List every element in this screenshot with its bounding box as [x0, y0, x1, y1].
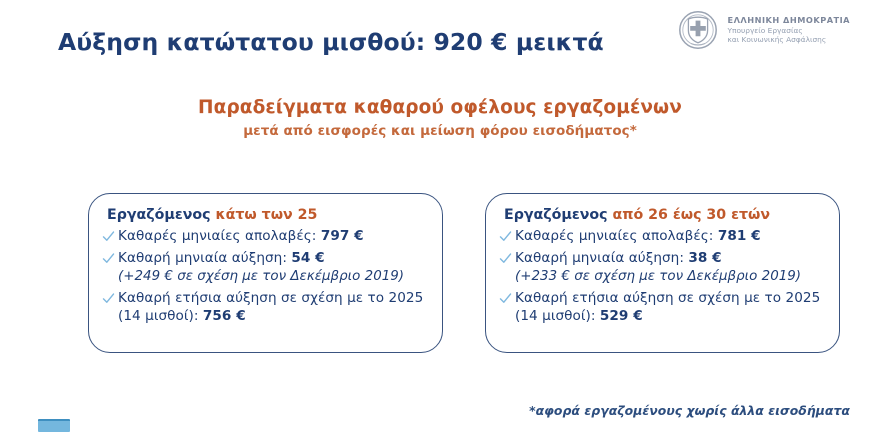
bullet-label: Καθαρή μηνιαία αύξηση:: [118, 250, 287, 266]
bullet-label: Καθαρή ετήσια αύξηση σε σχέση με το 2025…: [118, 290, 423, 324]
card-26-to-30: Εργαζόμενος από 26 έως 30 ετών Καθαρές μ…: [485, 193, 840, 353]
card-heading-prefix: Εργαζόμενος: [107, 207, 211, 223]
card-bullet-list: Καθαρές μηνιαίες απολαβές: 781 € Καθαρή …: [499, 228, 825, 325]
check-icon: [102, 250, 118, 265]
ministry-logo: ΕΛΛΗΝΙΚΗ ΔΗΜΟΚΡΑΤΙΑ Υπουργείο Εργασίας κ…: [678, 10, 850, 50]
check-icon: [102, 290, 118, 305]
bullet-text: Καθαρή μηνιαία αύξηση: 54 € (+249 € σε σ…: [118, 250, 404, 286]
list-item: Καθαρή μηνιαία αύξηση: 54 € (+249 € σε σ…: [102, 250, 428, 286]
card-bullet-list: Καθαρές μηνιαίες απολαβές: 797 € Καθαρή …: [102, 228, 428, 325]
bullet-value: 797 €: [321, 228, 364, 244]
page-title: Αύξηση κατώτατου μισθού: 920 € μεικτά: [58, 28, 604, 56]
subtitle-secondary: μετά από εισφορές και μείωση φόρου εισοδ…: [0, 123, 880, 139]
example-cards: Εργαζόμενος κάτω των 25 Καθαρές μηνιαίες…: [88, 193, 840, 353]
bullet-note: (+249 € σε σχέση με τον Δεκέμβριο 2019): [118, 268, 404, 286]
bullet-value: 756 €: [203, 308, 246, 324]
ministry-logo-text: ΕΛΛΗΝΙΚΗ ΔΗΜΟΚΡΑΤΙΑ Υπουργείο Εργασίας κ…: [727, 15, 850, 44]
list-item: Καθαρές μηνιαίες απολαβές: 781 €: [499, 228, 825, 246]
slide-root: ΕΛΛΗΝΙΚΗ ΔΗΜΟΚΡΑΤΙΑ Υπουργείο Εργασίας κ…: [0, 0, 880, 432]
bullet-value: 781 €: [718, 228, 761, 244]
list-item: Καθαρή μηνιαία αύξηση: 38 € (+233 € σε σ…: [499, 250, 825, 286]
greek-republic-emblem-icon: [678, 10, 718, 50]
list-item: Καθαρή ετήσια αύξηση σε σχέση με το 2025…: [499, 290, 825, 326]
bullet-text: Καθαρή ετήσια αύξηση σε σχέση με το 2025…: [118, 290, 428, 326]
subtitle-block: Παραδείγματα καθαρού οφέλους εργαζομένων…: [0, 97, 880, 139]
check-icon: [499, 250, 515, 265]
bullet-text: Καθαρή μηνιαία αύξηση: 38 € (+233 € σε σ…: [515, 250, 801, 286]
bullet-text: Καθαρές μηνιαίες απολαβές: 797 €: [118, 228, 364, 246]
bullet-label: Καθαρές μηνιαίες απολαβές:: [118, 228, 316, 244]
list-item: Καθαρή ετήσια αύξηση σε σχέση με το 2025…: [102, 290, 428, 326]
card-heading: Εργαζόμενος κάτω των 25: [107, 207, 428, 223]
check-icon: [499, 290, 515, 305]
bullet-note: (+233 € σε σχέση με τον Δεκέμβριο 2019): [515, 268, 801, 286]
bullet-text: Καθαρή ετήσια αύξηση σε σχέση με το 2025…: [515, 290, 825, 326]
bullet-value: 529 €: [600, 308, 643, 324]
check-icon: [102, 228, 118, 243]
card-under-25: Εργαζόμενος κάτω των 25 Καθαρές μηνιαίες…: [88, 193, 443, 353]
logo-organization: ΕΛΛΗΝΙΚΗ ΔΗΜΟΚΡΑΤΙΑ: [727, 15, 850, 26]
bullet-value: 38 €: [688, 250, 721, 266]
bullet-label: Καθαρή ετήσια αύξηση σε σχέση με το 2025…: [515, 290, 820, 324]
bullet-label: Καθαρές μηνιαίες απολαβές:: [515, 228, 713, 244]
logo-ministry-line-2: και Κοινωνικής Ασφάλισης: [727, 35, 850, 44]
check-icon: [499, 228, 515, 243]
card-heading-prefix: Εργαζόμενος: [504, 207, 608, 223]
list-item: Καθαρές μηνιαίες απολαβές: 797 €: [102, 228, 428, 246]
corner-accent-bar: [38, 419, 70, 432]
footnote: *αφορά εργαζομένους χωρίς άλλα εισοδήματ…: [529, 403, 850, 418]
bullet-text: Καθαρές μηνιαίες απολαβές: 781 €: [515, 228, 761, 246]
card-heading-accent: κάτω των 25: [216, 207, 318, 223]
bullet-value: 54 €: [291, 250, 324, 266]
bullet-label: Καθαρή μηνιαία αύξηση:: [515, 250, 684, 266]
subtitle-primary: Παραδείγματα καθαρού οφέλους εργαζομένων: [0, 97, 880, 118]
logo-ministry-line-1: Υπουργείο Εργασίας: [727, 26, 850, 35]
card-heading: Εργαζόμενος από 26 έως 30 ετών: [504, 207, 825, 223]
card-heading-accent: από 26 έως 30 ετών: [613, 207, 771, 223]
